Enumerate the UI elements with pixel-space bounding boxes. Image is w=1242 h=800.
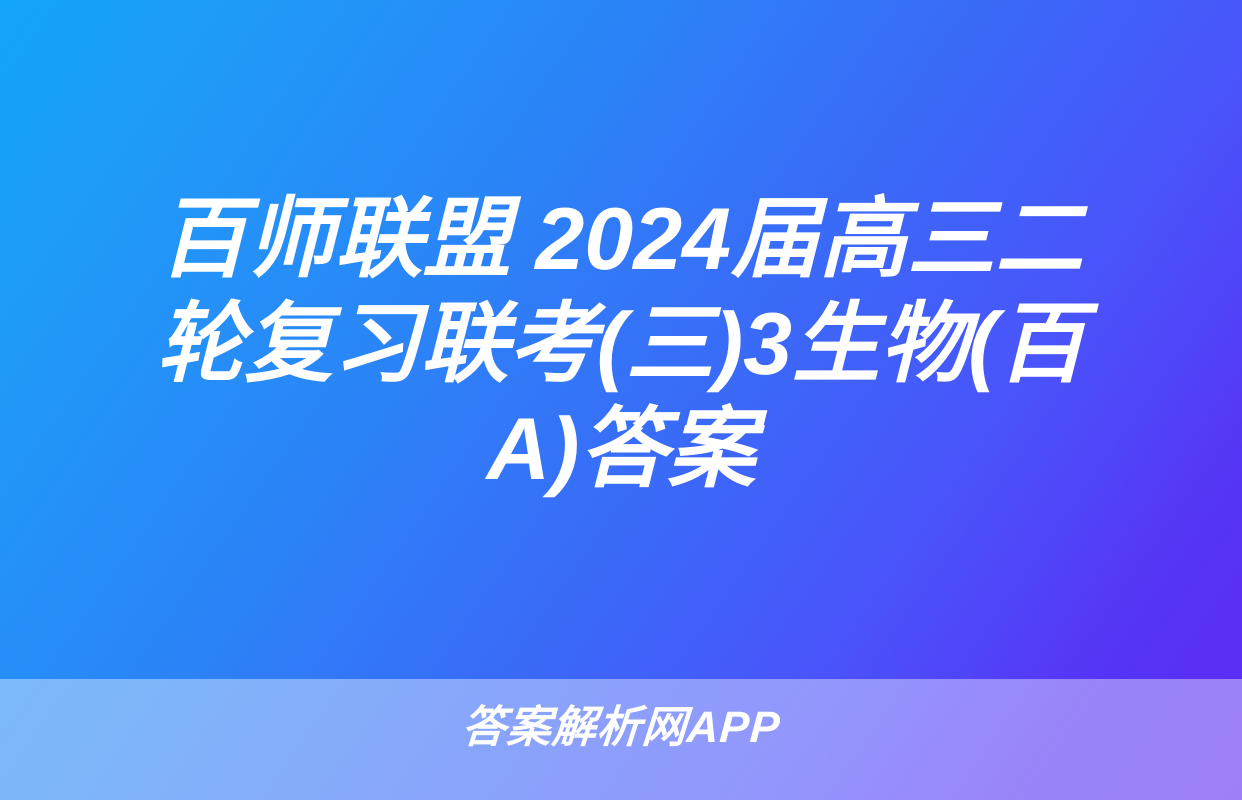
title-line-1: 百师联盟 2024届高三二 [60, 186, 1182, 291]
title-line-3: A)答案 [60, 396, 1182, 501]
answer-poster: 百师联盟 2024届高三二 轮复习联考(三)3生物(百 A)答案 答案解析网AP… [0, 0, 1242, 800]
watermark-app-label: 答案解析网APP [460, 702, 782, 754]
page-title: 百师联盟 2024届高三二 轮复习联考(三)3生物(百 A)答案 [0, 186, 1242, 501]
watermark-bar: 答案解析网APP [0, 702, 1242, 754]
title-line-2: 轮复习联考(三)3生物(百 [60, 291, 1182, 396]
